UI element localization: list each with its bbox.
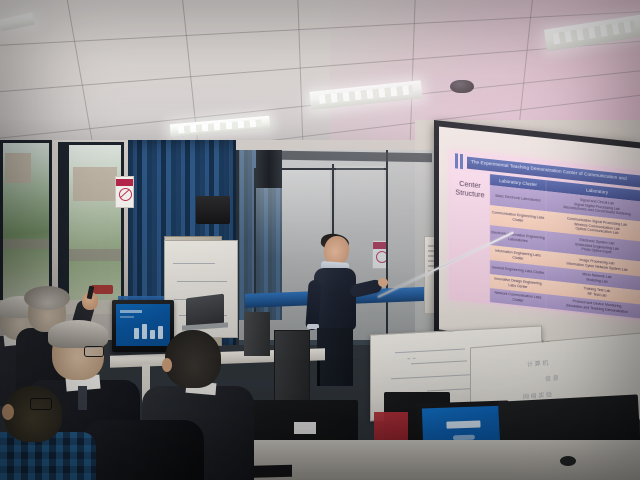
pc-tower [274, 330, 310, 404]
ceiling-duct [256, 150, 282, 188]
no-smoking-sign [115, 176, 134, 208]
projection-screen: The Experimental Teaching Demonstration … [434, 120, 640, 357]
attendee-ear [162, 358, 172, 372]
photo-scene: The Experimental Teaching Demonstration … [0, 0, 640, 480]
mouse [560, 456, 576, 466]
window-glass [3, 143, 49, 307]
monitor-screen [116, 304, 170, 346]
attendee-torso [84, 420, 204, 480]
projection-screen-surface: The Experimental Teaching Demonstration … [439, 127, 640, 352]
monitor-label [294, 422, 316, 434]
logo-icon [446, 420, 480, 428]
speaker-box [196, 196, 230, 224]
presenter [300, 236, 370, 386]
window-frame [0, 140, 52, 310]
monitor-stand [420, 392, 440, 402]
attendee-tie [78, 386, 87, 410]
window-frame [66, 142, 124, 310]
presentation-slide: The Experimental Teaching Demonstration … [449, 150, 640, 322]
window-glass [69, 145, 121, 307]
slide-section-label: Center Structure [451, 170, 489, 308]
attendee-hair [24, 286, 70, 310]
presenter-hand [378, 278, 388, 287]
glasses-icon [84, 346, 104, 357]
attendee-hair [48, 320, 108, 348]
glasses-icon [30, 398, 52, 410]
window-mullion [58, 142, 66, 310]
monitor [112, 300, 174, 352]
attendee-ear [2, 404, 14, 420]
slide-section-label-line2: Structure [455, 187, 484, 199]
smoke-detector-icon [450, 80, 474, 93]
pc-tower [244, 312, 270, 356]
slide-table: Laboratory Cluster Laboratory Basic Elec… [490, 174, 640, 317]
attendee-head [165, 330, 221, 388]
